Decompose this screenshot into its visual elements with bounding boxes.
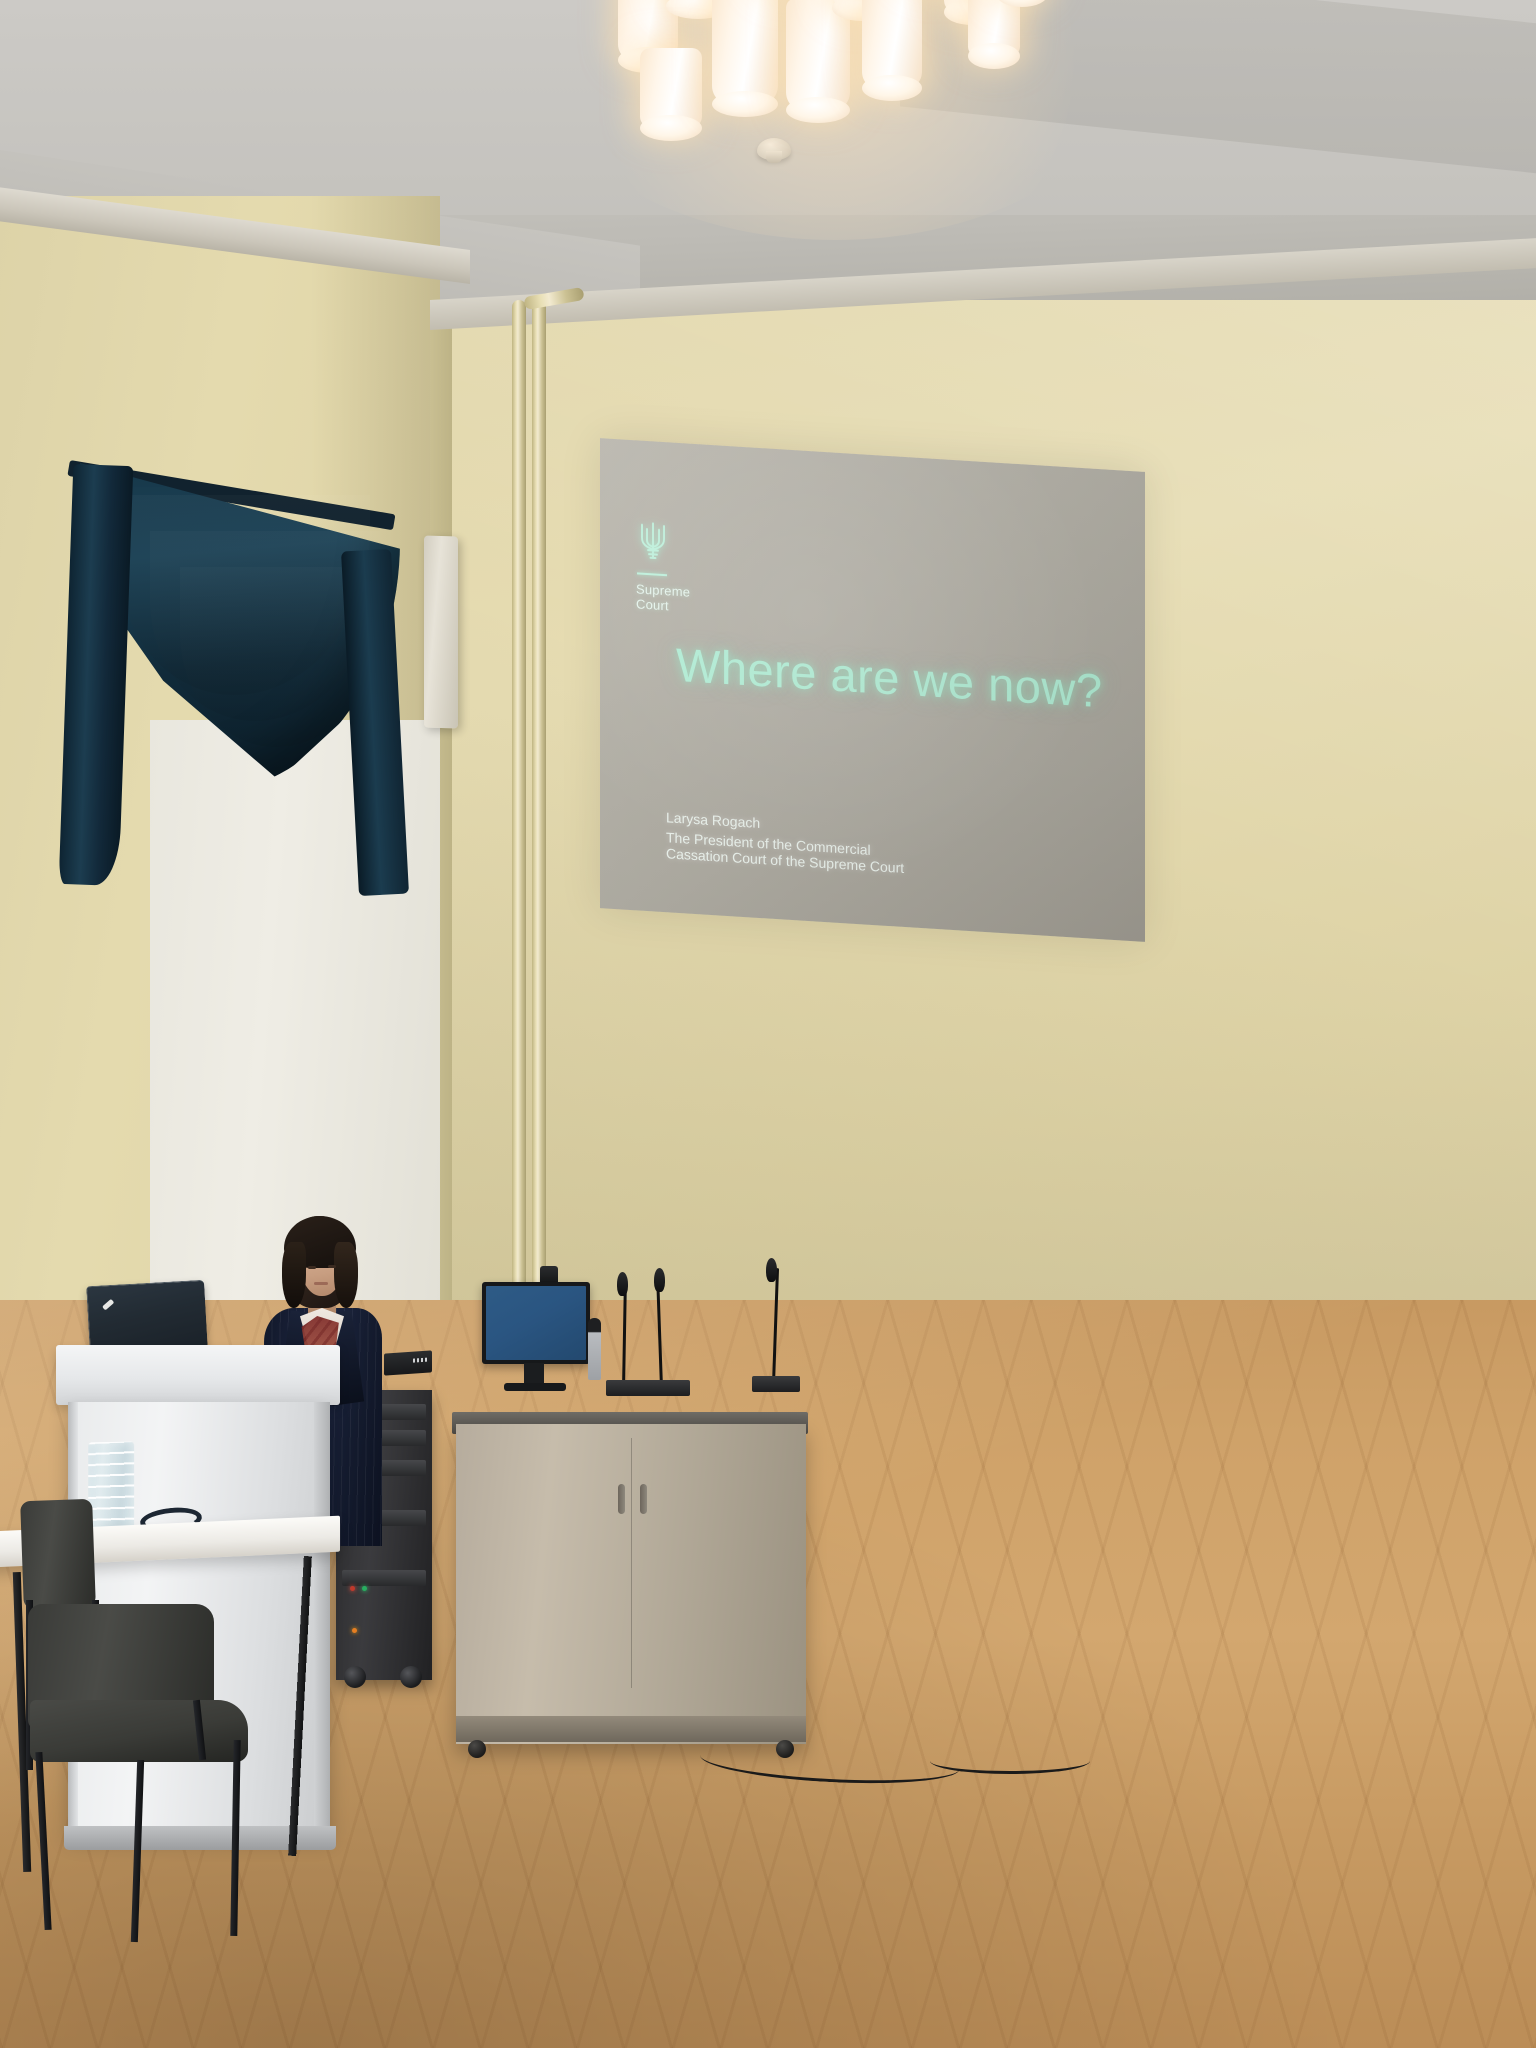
curtain-right-fall	[341, 549, 409, 896]
status-led	[350, 1586, 355, 1591]
microphone-head	[617, 1272, 628, 1296]
microphone-base[interactable]	[644, 1380, 690, 1396]
monitor-base	[504, 1383, 566, 1391]
cabinet-plinth	[456, 1716, 806, 1742]
wall-pipe	[532, 300, 546, 1300]
window-drape	[60, 455, 420, 905]
presenter-hair-side	[334, 1242, 358, 1308]
cabinet-handle[interactable]	[640, 1484, 647, 1514]
lectern-top	[56, 1345, 340, 1405]
av-cabinet	[456, 1424, 806, 1744]
caster-wheel	[468, 1740, 486, 1758]
microphone-head	[654, 1268, 665, 1292]
screen-glare	[600, 438, 1145, 942]
status-led	[352, 1628, 357, 1633]
monitor-screen	[486, 1286, 586, 1360]
wall-speaker	[424, 536, 458, 729]
floor-cable	[930, 1748, 1090, 1774]
lamp-tube	[712, 0, 778, 110]
lamp-tube	[862, 0, 922, 94]
presenter-mouth	[314, 1282, 328, 1285]
lamp-tube	[640, 48, 702, 134]
monitor-stand	[524, 1363, 544, 1385]
cabinet-handle[interactable]	[618, 1484, 625, 1514]
projection-screen: Supreme Court Where are we now? Larysa R…	[600, 438, 1145, 942]
slide: Supreme Court Where are we now? Larysa R…	[600, 438, 1145, 942]
glass-rings	[88, 1442, 134, 1535]
glass-stack	[88, 1442, 134, 1535]
av-control-device[interactable]	[384, 1350, 432, 1375]
status-led	[362, 1586, 367, 1591]
laptop-logo	[102, 1299, 114, 1311]
presenter-hair-side	[282, 1242, 306, 1308]
microphone-head	[766, 1258, 777, 1282]
curtain-left-fall	[59, 464, 134, 886]
caster-wheel	[344, 1666, 366, 1688]
wall-pipe	[512, 300, 526, 1440]
desktop-monitor	[482, 1282, 590, 1364]
handheld-microphone[interactable]	[588, 1318, 601, 1380]
caster-wheel	[400, 1666, 422, 1688]
chandelier	[600, 0, 1070, 210]
lamp-tube	[968, 0, 1020, 62]
presentation-room-photo: Supreme Court Where are we now? Larysa R…	[0, 0, 1536, 2048]
microphone-base[interactable]	[752, 1376, 800, 1392]
